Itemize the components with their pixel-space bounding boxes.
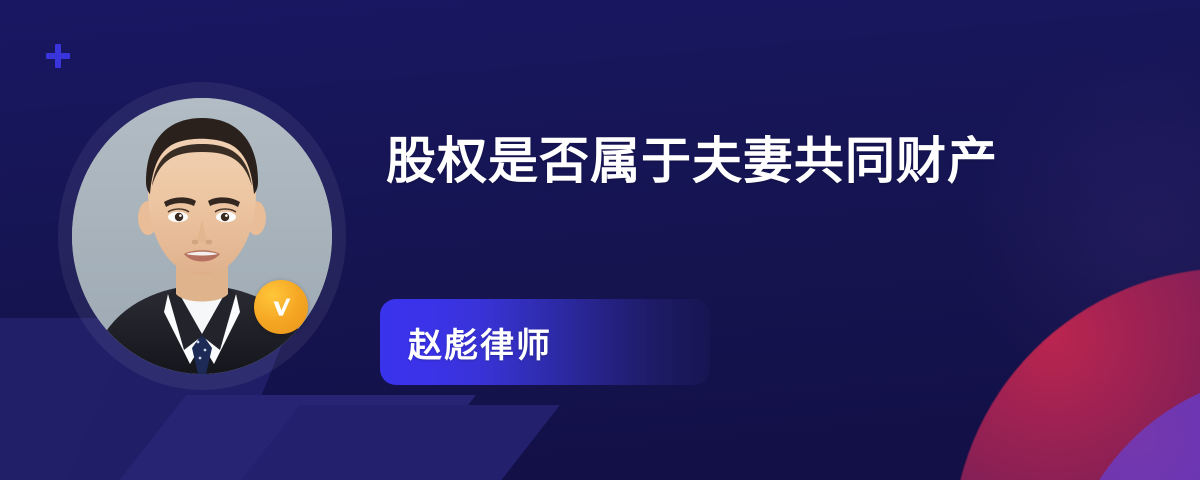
avatar[interactable]	[58, 82, 346, 390]
decorative-circle-inner	[1062, 372, 1200, 480]
decorative-circle-outer	[952, 268, 1200, 480]
promo-card: 股权是否属于夫妻共同财产 赵彪律师	[0, 0, 1200, 480]
verified-badge-icon	[254, 280, 308, 334]
decorative-glow	[960, 40, 1200, 420]
decorative-slab-d	[214, 405, 560, 480]
avatar-photo	[72, 98, 332, 374]
page-title: 股权是否属于夫妻共同财产	[386, 122, 1086, 200]
verified-check-glyph	[266, 292, 296, 322]
plus-icon-bar-vertical	[55, 44, 61, 68]
plus-icon	[46, 44, 70, 68]
decorative-slab-c	[92, 395, 476, 480]
portrait-illustration	[72, 98, 332, 374]
lawyer-name-button[interactable]: 赵彪律师	[380, 299, 710, 385]
